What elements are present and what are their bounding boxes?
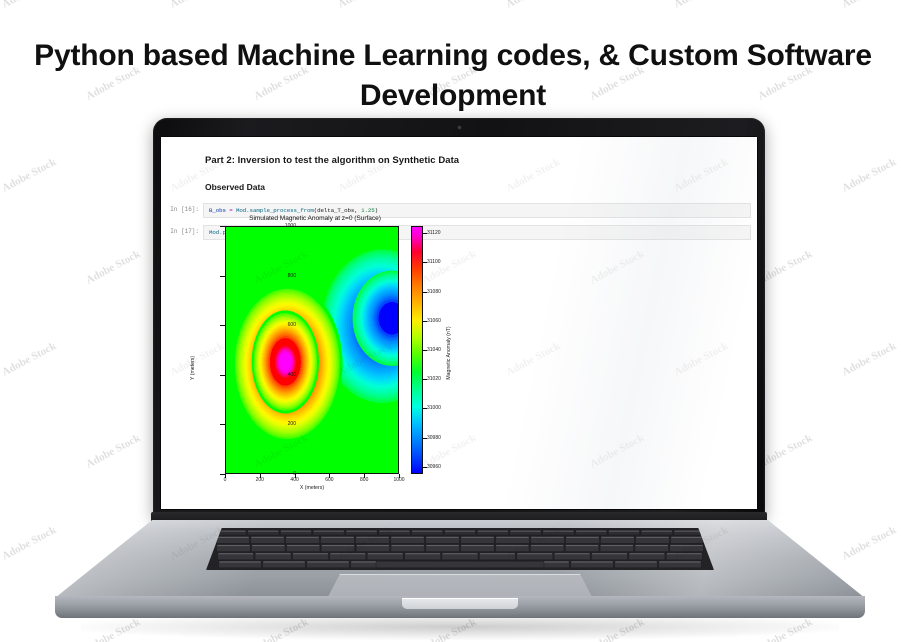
chart-y-tick-mark	[220, 325, 225, 326]
colorbar-tick-label: 31040	[427, 347, 467, 353]
colorbar-tick-label: 30960	[427, 464, 467, 470]
key-highlight	[357, 545, 389, 546]
key-highlight	[379, 531, 409, 532]
key-highlight	[368, 553, 403, 554]
key-highlight	[636, 537, 668, 538]
chart-x-tick-mark	[260, 474, 261, 478]
colorbar-tick-label: 31080	[427, 289, 467, 295]
watermark-text: Adobe Stock	[840, 0, 898, 11]
key-highlight	[531, 537, 563, 538]
screenshot-stage: Adobe StockAdobe StockAdobe StockAdobe S…	[0, 0, 906, 642]
page-title-line-1: Python based Machine Learning codes, & C…	[34, 39, 872, 72]
key-highlight	[331, 553, 366, 554]
laptop-latch-notch	[402, 598, 518, 609]
chart-x-axis-label: X (meters)	[225, 485, 399, 491]
colorbar-tick-mark	[423, 408, 427, 409]
key-highlight	[281, 531, 311, 532]
chart-y-tick-label: 400	[256, 372, 296, 378]
watermark-text: Adobe Stock	[0, 340, 58, 379]
key-highlight	[543, 531, 573, 532]
chart-y-tick-mark	[220, 424, 225, 425]
key-highlight	[427, 545, 459, 546]
code-token: 1.25	[361, 207, 375, 214]
key-highlight	[609, 531, 639, 532]
code-token: Mod.sample_process_from	[236, 207, 314, 214]
watermark-text: Adobe Stock	[0, 0, 58, 11]
key-highlight	[347, 531, 377, 532]
key-highlight	[461, 537, 493, 538]
key-highlight	[356, 537, 388, 538]
colorbar-tick-label: 31120	[427, 230, 467, 236]
chart-plot-area	[225, 226, 399, 474]
chart-x-tick-mark	[399, 474, 400, 478]
key-highlight	[217, 545, 249, 546]
chart-y-tick-mark	[220, 276, 225, 277]
colorbar-tick-mark	[423, 438, 427, 439]
colorbar-tick-mark	[423, 379, 427, 380]
key-highlight	[219, 561, 260, 562]
contour-field	[226, 227, 398, 473]
colorbar-label: Magnetic Anomaly (nT)	[446, 326, 452, 379]
key-highlight	[478, 531, 508, 532]
colorbar-tick-label: 31060	[427, 318, 467, 324]
key-highlight	[480, 553, 515, 554]
key-highlight	[496, 545, 528, 546]
key-highlight	[287, 545, 319, 546]
laptop-lid: Part 2: Inversion to test the algorithm …	[153, 118, 765, 518]
key-highlight	[218, 553, 253, 554]
colorbar-tick-label: 31000	[427, 405, 467, 411]
colorbar-tick-label: 31100	[427, 259, 467, 265]
chart-x-tick-mark	[329, 474, 330, 478]
key-highlight	[555, 553, 590, 554]
key-highlight	[248, 531, 278, 532]
key-highlight	[566, 537, 598, 538]
chart-x-tick-mark	[225, 474, 226, 478]
watermark-text: Adobe Stock	[504, 0, 562, 11]
page-title: Python based Machine Learning codes, & C…	[0, 36, 906, 115]
key-highlight	[443, 553, 478, 554]
watermark-text: Adobe Stock	[0, 0, 58, 11]
colorbar-tick-mark	[423, 350, 427, 351]
key-highlight	[426, 537, 458, 538]
key-highlight	[630, 553, 665, 554]
watermark-text: Adobe Stock	[672, 0, 730, 11]
laptop-device: Part 2: Inversion to test the algorithm …	[55, 118, 865, 630]
key-highlight	[252, 545, 284, 546]
key-highlight	[263, 561, 304, 562]
chart-y-tick-label: 1000	[256, 223, 296, 229]
cell-prompt-16: In [16]:	[165, 206, 199, 213]
key-highlight	[391, 537, 423, 538]
matplotlib-figure: Simulated Magnetic Anomaly at z=0 (Surfa…	[199, 215, 499, 505]
chart-y-tick-label: 200	[256, 421, 296, 427]
jupyter-notebook: Part 2: Inversion to test the algorithm …	[161, 137, 757, 509]
key-highlight	[671, 537, 703, 538]
cell-code-16: B_obs = Mod.sample_process_from(delta_T_…	[209, 207, 378, 214]
keyboard-key-space[interactable]	[376, 561, 544, 568]
code-token: B_obs	[209, 207, 229, 214]
watermark-text: Adobe Stock	[336, 0, 394, 11]
colorbar-tick-mark	[423, 467, 427, 468]
laptop-keyboard[interactable]	[206, 528, 714, 570]
chart-y-tick-label: 800	[256, 273, 296, 279]
key-highlight	[256, 553, 291, 554]
key-highlight	[293, 553, 328, 554]
watermark-text: Adobe Stock	[336, 0, 394, 11]
key-highlight	[615, 561, 656, 562]
code-token: )	[375, 207, 378, 214]
chart-y-tick-mark	[220, 226, 225, 227]
watermark-text: Adobe Stock	[840, 0, 898, 11]
notebook-subheading: Observed Data	[205, 182, 265, 192]
key-highlight	[405, 553, 440, 554]
key-highlight	[322, 545, 354, 546]
key-highlight	[601, 537, 633, 538]
key-highlight	[566, 545, 598, 546]
webcam-icon	[458, 126, 461, 129]
colorbar-tick-mark	[423, 292, 427, 293]
key-highlight	[531, 545, 563, 546]
colorbar-tick-mark	[423, 321, 427, 322]
watermark-text: Adobe Stock	[0, 156, 58, 195]
key-highlight	[321, 537, 353, 538]
colorbar-tick-mark	[423, 233, 427, 234]
watermark-text: Adobe Stock	[504, 0, 562, 11]
laptop-bezel: Part 2: Inversion to test the algorithm …	[160, 136, 758, 510]
key-highlight	[251, 537, 283, 538]
chart-title: Simulated Magnetic Anomaly at z=0 (Surfa…	[199, 215, 431, 222]
key-highlight	[314, 531, 344, 532]
colorbar-tick-mark	[423, 262, 427, 263]
key-highlight	[592, 553, 627, 554]
watermark-text: Adobe Stock	[672, 0, 730, 11]
key-highlight	[642, 531, 672, 532]
page-title-line-2: Development	[0, 76, 906, 116]
chart-x-tick-mark	[295, 474, 296, 478]
chart-x-tick-mark	[364, 474, 365, 478]
colorbar-tick-label: 31020	[427, 376, 467, 382]
key-highlight	[601, 545, 633, 546]
key-highlight	[307, 561, 348, 562]
key-highlight	[667, 553, 702, 554]
watermark-text: Adobe Stock	[0, 156, 58, 195]
key-highlight	[659, 561, 700, 562]
chart-y-axis-label: Y (meters)	[190, 356, 196, 380]
key-highlight	[461, 545, 493, 546]
colorbar-tick-label: 30980	[427, 435, 467, 441]
key-highlight	[571, 561, 612, 562]
code-token: (delta_T_obs,	[314, 207, 361, 214]
key-highlight	[286, 537, 318, 538]
laptop-screen: Part 2: Inversion to test the algorithm …	[161, 137, 757, 509]
key-highlight	[216, 537, 248, 538]
notebook-heading: Part 2: Inversion to test the algorithm …	[205, 155, 459, 166]
key-highlight	[392, 545, 424, 546]
chart-y-tick-label: 600	[256, 322, 296, 328]
key-highlight	[517, 553, 552, 554]
key-highlight	[496, 537, 528, 538]
watermark-text: Adobe Stock	[0, 340, 58, 379]
laptop-base	[55, 512, 865, 616]
key-highlight	[445, 531, 475, 532]
key-highlight	[671, 545, 703, 546]
key-highlight	[412, 531, 442, 532]
watermark-text: Adobe Stock	[0, 524, 58, 563]
key-highlight	[576, 531, 606, 532]
cell-prompt-17: In [17]:	[165, 228, 199, 235]
key-highlight	[636, 545, 668, 546]
watermark-text: Adobe Stock	[168, 0, 226, 11]
watermark-text: Adobe Stock	[0, 524, 58, 563]
chart-colorbar	[411, 226, 423, 474]
laptop-shadow	[81, 618, 839, 640]
key-highlight	[511, 531, 541, 532]
chart-y-tick-mark	[220, 375, 225, 376]
watermark-text: Adobe Stock	[168, 0, 226, 11]
